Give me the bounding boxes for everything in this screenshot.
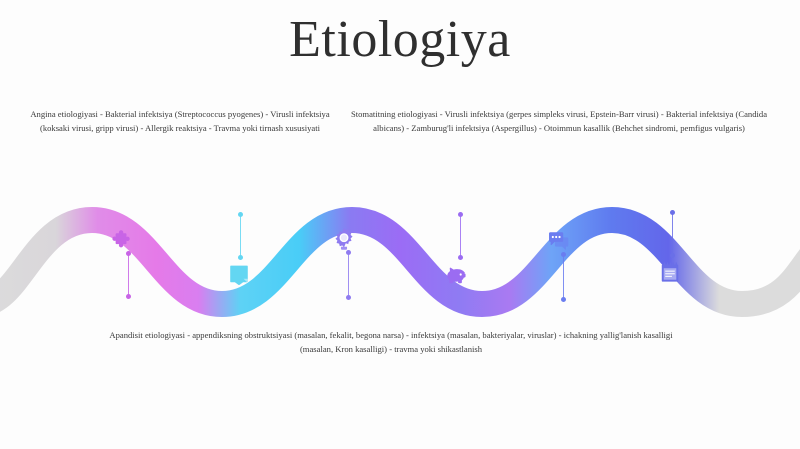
marker-stem (240, 216, 241, 256)
piggy-bank-icon (444, 263, 470, 289)
text-block-stomatit: Stomatitning etiologiyasi - Virusli infe… (336, 108, 782, 136)
page-title: Etiologiya (0, 10, 800, 70)
marker-stem (348, 254, 349, 296)
book-icon (226, 262, 252, 288)
marker-dot-bottom (238, 255, 243, 260)
marker-dot-bottom (458, 255, 463, 260)
puzzle-icon (110, 228, 136, 254)
marker-pin-3 (347, 250, 349, 300)
marker-dot-bottom (670, 253, 675, 258)
notepad-icon (657, 260, 683, 286)
marker-dot-bottom (346, 295, 351, 300)
slide-canvas: Etiologiya Angina etiologiyasi - Bakteri… (0, 0, 800, 449)
marker-pin-5 (562, 252, 564, 302)
marker-pin-1 (127, 251, 129, 299)
marker-stem (128, 255, 129, 295)
marker-stem (672, 214, 673, 254)
marker-stem (563, 256, 564, 298)
marker-stem (460, 216, 461, 256)
marker-pin-2 (239, 212, 241, 260)
marker-pin-4 (459, 212, 461, 260)
marker-pin-6 (671, 210, 673, 258)
text-block-apandisit: Apandisit etiologiyasi - appendiksning o… (108, 329, 674, 357)
marker-dot-bottom (561, 297, 566, 302)
marker-dot-bottom (126, 294, 131, 299)
text-block-angina: Angina etiologiyasi - Bakterial infektsi… (30, 108, 330, 136)
wave-diagram (0, 186, 800, 326)
gear-icon (331, 226, 357, 252)
wave-path-svg (0, 186, 800, 326)
chat-bubble-icon (546, 228, 572, 254)
